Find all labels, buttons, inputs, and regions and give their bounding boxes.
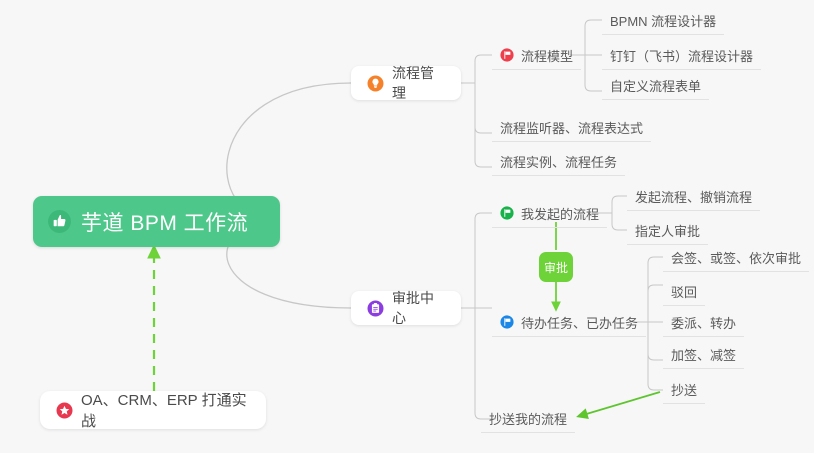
- node-label: 加签、减签: [671, 345, 736, 364]
- node-label: 流程实例、流程任务: [500, 152, 617, 171]
- branch-process-management[interactable]: 流程管理: [351, 66, 461, 100]
- node-todo-done-tasks[interactable]: 待办任务、已办任务: [492, 308, 646, 337]
- node-reject[interactable]: 驳回: [663, 277, 705, 306]
- node-countersign[interactable]: 会签、或签、依次审批: [663, 243, 809, 272]
- node-label: 委派、转办: [671, 313, 736, 332]
- node-cc-to-me[interactable]: 抄送我的流程: [481, 404, 575, 433]
- root-label: 芋道 BPM 工作流: [81, 207, 248, 237]
- node-process-model[interactable]: 流程模型: [492, 41, 581, 70]
- node-label: BPMN 流程设计器: [610, 11, 716, 30]
- node-label: 自定义流程表单: [610, 76, 701, 95]
- node-label: 我发起的流程: [521, 204, 599, 223]
- node-assignee-approval[interactable]: 指定人审批: [627, 216, 708, 245]
- node-add-remove-sign[interactable]: 加签、减签: [663, 340, 744, 369]
- flag-green-icon: [500, 206, 514, 220]
- node-label: 钉钉（飞书）流程设计器: [610, 46, 753, 65]
- node-custom-form[interactable]: 自定义流程表单: [602, 71, 709, 100]
- node-label: 驳回: [671, 282, 697, 301]
- branch-label: 审批中心: [392, 288, 445, 328]
- clipboard-icon: [367, 300, 384, 317]
- branch-label: 流程管理: [392, 63, 445, 103]
- node-label: 指定人审批: [635, 221, 700, 240]
- node-start-cancel-process[interactable]: 发起流程、撤销流程: [627, 182, 760, 211]
- approval-badge-label: 审批: [544, 259, 568, 276]
- flag-blue-icon: [500, 315, 514, 329]
- branch-approval-center[interactable]: 审批中心: [351, 291, 461, 325]
- node-my-initiated[interactable]: 我发起的流程: [492, 199, 607, 228]
- node-oa-crm-erp[interactable]: OA、CRM、ERP 打通实战: [40, 391, 266, 429]
- node-dingtalk-designer[interactable]: 钉钉（飞书）流程设计器: [602, 41, 761, 70]
- node-bpmn-designer[interactable]: BPMN 流程设计器: [602, 6, 724, 35]
- node-label: 流程模型: [521, 46, 573, 65]
- node-label: 待办任务、已办任务: [521, 313, 638, 332]
- star-icon: [56, 402, 73, 419]
- node-cc[interactable]: 抄送: [663, 375, 705, 404]
- node-label: 流程监听器、流程表达式: [500, 118, 643, 137]
- mindmap-canvas: 芋道 BPM 工作流 流程管理 流程模型 BPMN 流程设计器 钉钉（飞书）流程: [0, 0, 814, 453]
- approval-badge: 审批: [539, 252, 573, 282]
- node-delegate-transfer[interactable]: 委派、转办: [663, 308, 744, 337]
- node-label: OA、CRM、ERP 打通实战: [81, 389, 250, 431]
- node-label: 抄送: [671, 380, 697, 399]
- node-listener-expression[interactable]: 流程监听器、流程表达式: [492, 113, 651, 142]
- root-node[interactable]: 芋道 BPM 工作流: [33, 196, 280, 247]
- lightbulb-icon: [367, 75, 384, 92]
- thumbs-up-icon: [47, 209, 72, 234]
- node-label: 发起流程、撤销流程: [635, 187, 752, 206]
- node-instance-task[interactable]: 流程实例、流程任务: [492, 147, 625, 176]
- flag-red-icon: [500, 48, 514, 62]
- node-label: 抄送我的流程: [489, 409, 567, 428]
- node-label: 会签、或签、依次审批: [671, 248, 801, 267]
